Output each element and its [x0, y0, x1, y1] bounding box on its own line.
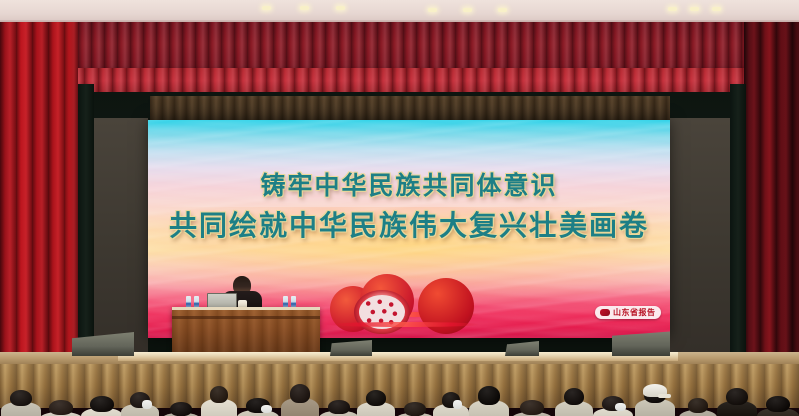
- audience-head: [404, 402, 426, 416]
- broadcaster-badge: 山东省报告: [595, 306, 661, 319]
- audience-head: [170, 402, 192, 416]
- audience-head: [90, 396, 113, 412]
- audience-head: [366, 390, 386, 406]
- audience-person: [86, 396, 118, 416]
- audience-person: [324, 400, 354, 416]
- face-mask: [261, 405, 273, 413]
- audience-person: [44, 400, 78, 416]
- audience-person: [206, 386, 232, 414]
- audience-person: [474, 386, 504, 416]
- auditorium-photo: 铸牢中华民族共同体意识 共同绘就中华民族伟大复兴壮美画卷 山东省报告: [0, 0, 799, 416]
- audience-person: [286, 384, 314, 414]
- audience-person: [762, 396, 794, 416]
- face-mask: [453, 400, 462, 409]
- audience-head: [520, 400, 543, 415]
- side-curtain-right: [744, 22, 799, 370]
- audience-head: [766, 396, 789, 412]
- audience-head: [290, 384, 310, 403]
- audience-rows: [0, 356, 799, 416]
- dark-drape-left: [78, 84, 94, 364]
- audience-person: [6, 390, 36, 416]
- audience-person: [560, 388, 588, 416]
- audience-head: [688, 398, 708, 413]
- audience-head: [726, 388, 748, 405]
- audience-head: [10, 390, 32, 406]
- audience-person: [516, 400, 548, 416]
- audience-person: [722, 388, 752, 416]
- pomegranate-open-icon: [354, 290, 410, 334]
- audience-person: [438, 392, 464, 416]
- cap-brim: [658, 394, 671, 398]
- broadcaster-badge-label: 山东省报告: [613, 307, 656, 318]
- ceiling-light-6: [668, 7, 677, 11]
- audience-person: [126, 392, 154, 416]
- side-curtain-left: [0, 22, 78, 370]
- audience-person: [362, 390, 390, 416]
- presenter-desk: [172, 307, 320, 352]
- slide-title-line-2: 共同绘就中华民族伟大复兴壮美画卷: [148, 204, 670, 244]
- audience-head: [478, 386, 500, 405]
- ceiling-light-1: [300, 6, 309, 10]
- audience-person: [400, 402, 430, 416]
- audience-head: [328, 400, 350, 414]
- ceiling-light-7: [690, 7, 699, 11]
- audience-head: [210, 386, 229, 403]
- broadcast-mark-icon: [600, 309, 610, 316]
- desk-trim: [172, 316, 320, 319]
- audience-person: [598, 396, 628, 416]
- face-mask: [615, 403, 626, 411]
- ceiling-light-5: [498, 8, 507, 12]
- ceiling-light-0: [262, 6, 271, 10]
- slide-title-line-1: 铸牢中华民族共同体意识: [148, 166, 670, 202]
- audience-person: [166, 402, 196, 416]
- pomegranate-graphic: [330, 270, 480, 334]
- audience-person: [242, 398, 274, 416]
- face-mask: [142, 400, 152, 409]
- audience-head: [49, 400, 73, 415]
- ceiling-light-8: [712, 7, 721, 11]
- ceiling-light-3: [428, 8, 437, 12]
- ceiling-light-4: [463, 8, 472, 12]
- audience-person: [684, 398, 712, 416]
- dark-drape-right: [730, 84, 746, 364]
- audience-person: [640, 386, 670, 414]
- ceiling-light-2: [336, 6, 345, 10]
- audience-head: [564, 388, 584, 405]
- ribbon-swash-upper: [330, 322, 480, 327]
